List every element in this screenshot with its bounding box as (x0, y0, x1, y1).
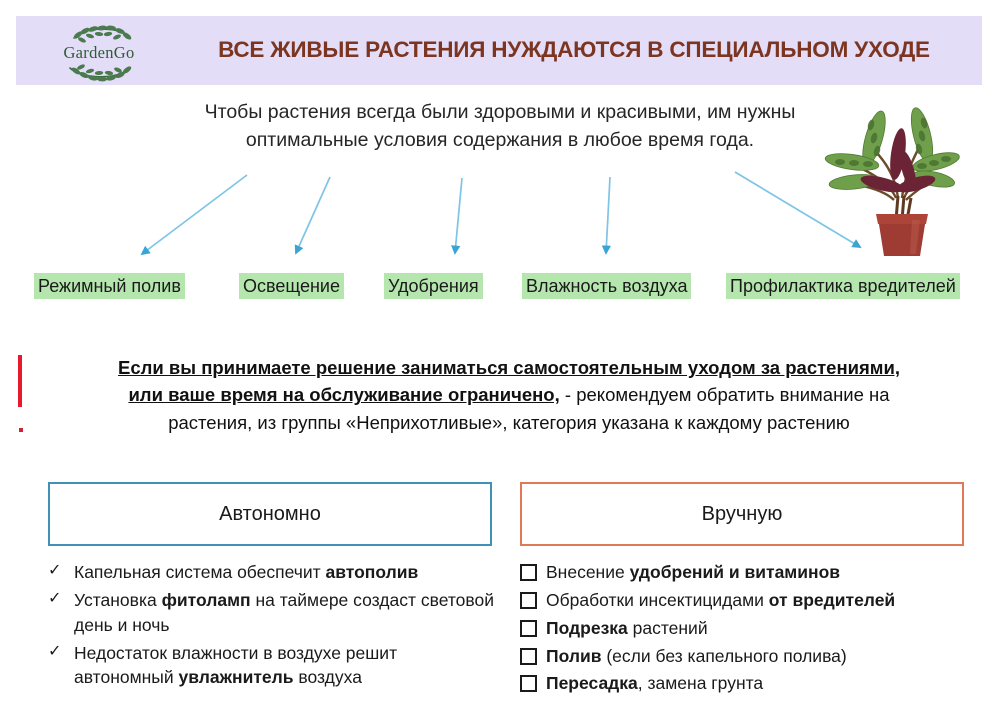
list-item[interactable]: Полив (если без капельного полива) (520, 644, 980, 669)
list-item-emphasis: Подрезка (546, 618, 628, 638)
checkbox-square-icon (520, 592, 537, 609)
column-header-autonomous-label: Автономно (219, 503, 321, 526)
logo-wordmark: GardenGo (63, 43, 134, 62)
care-label-5[interactable]: Профилактика вредителей (726, 273, 960, 299)
list-item-emphasis: Пересадка (546, 673, 638, 693)
list-item-plain: Капельная система обеспечит (74, 562, 326, 582)
arrow-to-osveshchenie (296, 177, 330, 253)
checkbox-icon[interactable] (520, 644, 546, 668)
list-item-plain: Внесение (546, 562, 630, 582)
arrow-to-udobreniya (455, 178, 462, 253)
list-item-plain: (если без капельного полива) (601, 646, 846, 666)
page-title: ВСЕ ЖИВЫЕ РАСТЕНИЯ НУЖДАЮТСЯ В СПЕЦИАЛЬН… (166, 16, 982, 85)
care-label-4[interactable]: Влажность воздуха (522, 273, 691, 299)
highlight-line-2: или ваше время на обслуживание ограничен… (34, 381, 984, 408)
red-accent-bar (18, 355, 22, 407)
list-item-plain: воздуха (294, 667, 362, 687)
list-item-plain: , замена грунта (638, 673, 763, 693)
arrow-to-vlazhnost (606, 177, 610, 253)
slide-page: GardenGo ВСЕ ЖИВЫЕ РАСТЕНИЯ НУЖДАЮТСЯ В … (0, 0, 1000, 724)
column-header-autonomous[interactable]: Автономно (48, 482, 492, 546)
checkbox-icon[interactable] (520, 588, 546, 612)
arrow-to-polив (142, 175, 247, 254)
care-label-1[interactable]: Режимный полив (34, 273, 185, 299)
checkbox-icon[interactable] (520, 671, 546, 695)
highlight-line-3: растения, из группы «Неприхотливые», кат… (34, 409, 984, 436)
highlight-paragraph: Если вы принимаете решение заниматься са… (34, 354, 984, 436)
list-item-emphasis: от вредителей (769, 590, 895, 610)
list-item-text: Подрезка растений (546, 616, 980, 641)
highlight-line-2-rest: - рекомендуем обратить внимание на (560, 384, 890, 405)
checkmark-icon: ✓ (48, 560, 74, 583)
list-item-plain: Обработки инсектицидами (546, 590, 769, 610)
list-item-emphasis: фитоламп (162, 590, 251, 610)
autonomous-list: ✓Капельная система обеспечит автополив✓У… (48, 560, 498, 693)
list-item[interactable]: Пересадка, замена грунта (520, 671, 980, 696)
checkmark-icon: ✓ (48, 588, 74, 611)
column-header-manual-label: Вручную (702, 503, 783, 526)
checkbox-square-icon (520, 620, 537, 637)
list-item[interactable]: ✓Капельная система обеспечит автополив (48, 560, 498, 585)
care-label-2[interactable]: Освещение (239, 273, 344, 299)
list-item-emphasis: увлажнитель (179, 667, 294, 687)
list-item-text: Пересадка, замена грунта (546, 671, 980, 696)
checkbox-square-icon (520, 675, 537, 692)
list-item-text: Недостаток влажности в воздухе решит авт… (74, 641, 498, 691)
checkbox-square-icon (520, 648, 537, 665)
column-header-manual[interactable]: Вручную (520, 482, 964, 546)
checkbox-icon[interactable] (520, 560, 546, 584)
list-item-plain: Установка (74, 590, 162, 610)
potted-plant-image (812, 80, 992, 260)
list-item-plain: растений (628, 618, 708, 638)
gardengo-logo: GardenGo (40, 22, 158, 84)
checkmark-icon: ✓ (48, 641, 74, 664)
list-item[interactable]: Подрезка растений (520, 616, 980, 641)
header-bar: GardenGo ВСЕ ЖИВЫЕ РАСТЕНИЯ НУЖДАЮТСЯ В … (16, 16, 982, 85)
list-item-emphasis: удобрений и витаминов (630, 562, 840, 582)
checkbox-icon[interactable] (520, 616, 546, 640)
subtitle-text: Чтобы растения всегда были здоровыми и к… (175, 98, 825, 155)
red-accent-dot (19, 428, 23, 432)
highlight-line-1: Если вы принимаете решение заниматься са… (34, 354, 984, 381)
list-item[interactable]: ✓Установка фитоламп на таймере создаст с… (48, 588, 498, 638)
laurel-wreath-icon: GardenGo (40, 22, 158, 84)
list-item-text: Внесение удобрений и витаминов (546, 560, 980, 585)
list-item-text: Полив (если без капельного полива) (546, 644, 980, 669)
list-item-emphasis: Полив (546, 646, 601, 666)
checkbox-square-icon (520, 564, 537, 581)
manual-list: Внесение удобрений и витаминовОбработки … (520, 560, 980, 699)
list-item-text: Обработки инсектицидами от вредителей (546, 588, 980, 613)
list-item[interactable]: ✓Недостаток влажности в воздухе решит ав… (48, 641, 498, 691)
list-item-text: Установка фитоламп на таймере создаст св… (74, 588, 498, 638)
list-item[interactable]: Обработки инсектицидами от вредителей (520, 588, 980, 613)
list-item[interactable]: Внесение удобрений и витаминов (520, 560, 980, 585)
care-labels-row: Режимный полив Освещение Удобрения Влажн… (0, 273, 1000, 299)
list-item-emphasis: автополив (326, 562, 419, 582)
subtitle-line-1: Чтобы растения всегда были здоровыми и к… (205, 101, 796, 123)
subtitle-line-2: оптимальные условия содержания в любое в… (246, 129, 754, 151)
highlight-line-2-bold: или ваше время на обслуживание ограничен… (128, 384, 559, 405)
care-label-3[interactable]: Удобрения (384, 273, 483, 299)
list-item-text: Капельная система обеспечит автополив (74, 560, 498, 585)
